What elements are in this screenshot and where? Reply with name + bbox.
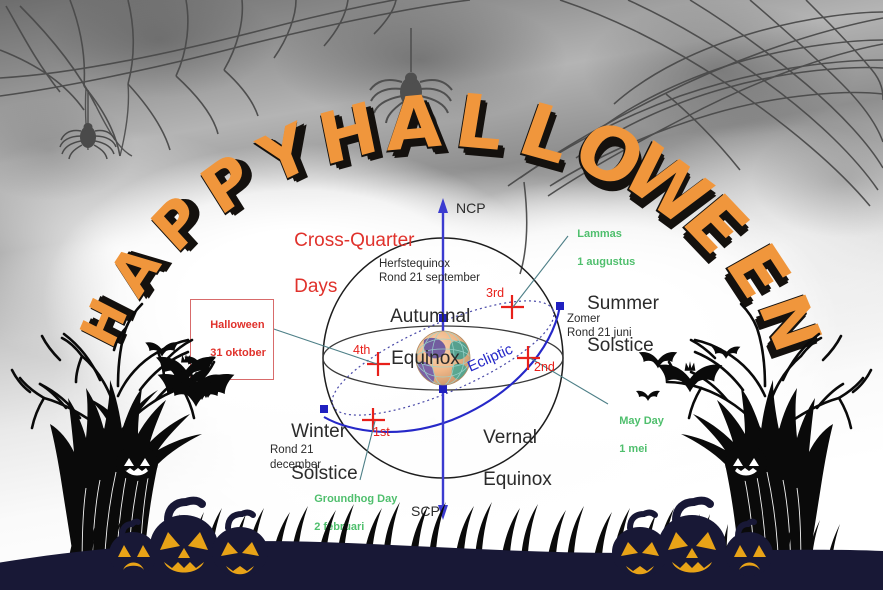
autumnal-equinox-label: Autumnal Equinox	[370, 285, 470, 390]
cross-label-1st: 1st	[373, 425, 390, 439]
cross-label-3rd: 3rd	[486, 286, 504, 300]
callout-lammas-name: Lammas	[577, 228, 622, 240]
summer-line1: Summer	[587, 293, 659, 314]
summer-dutch-line1: Zomer	[567, 312, 600, 326]
vernal-line1: Vernal	[483, 427, 537, 448]
banner-letter-2: P	[142, 186, 213, 262]
callout-may-day: May Day 1 mei	[607, 400, 664, 470]
cross-quarter-heading-line1: Cross-Quarter	[294, 230, 414, 251]
callout-may-day-date: 1 mei	[619, 443, 647, 455]
banner-letter-3: P	[192, 144, 264, 226]
banner-letter-7: L	[451, 85, 510, 162]
callout-lammas: Lammas 1 augustus	[565, 213, 635, 283]
winter-dutch-line2: december	[270, 458, 321, 472]
scp-label: SCP	[411, 503, 440, 519]
callout-halloween: Halloween 31 oktober	[190, 299, 274, 380]
summer-dutch-line2: Rond 21 juni	[567, 326, 632, 340]
callout-halloween-name: Halloween	[210, 319, 264, 331]
cross-label-2nd: 2nd	[534, 360, 555, 374]
banner-letter-5: H	[313, 92, 383, 176]
cross-quarter-heading-line2: Days	[294, 276, 337, 297]
winter-dutch-line1: Rond 21	[270, 443, 313, 457]
vernal-line2: Equinox	[483, 469, 552, 490]
callout-lammas-date: 1 augustus	[577, 256, 635, 268]
autumnal-line2: Equinox	[391, 348, 460, 369]
autumnal-dutch-line1: Herfstequinox	[379, 257, 450, 271]
banner-letter-6: A	[385, 85, 442, 162]
callout-groundhog-date: 2 februari	[314, 521, 364, 533]
callout-halloween-date: 31 oktober	[210, 347, 266, 359]
autumnal-dutch-line2: Rond 21 september	[379, 271, 480, 285]
banner-letter-4: Y	[251, 114, 319, 196]
callout-groundhog-day: Groundhog Day 2 februari	[302, 478, 397, 548]
banner-letter-1: A	[102, 236, 170, 306]
autumnal-line1: Autumnal	[390, 306, 470, 327]
halloween-astronomy-poster: HAPPYHALLOWEEN	[0, 0, 883, 590]
cross-label-4th: 4th	[353, 343, 370, 357]
ncp-label: NCP	[456, 200, 486, 216]
callout-may-day-name: May Day	[619, 415, 664, 427]
callout-groundhog-name: Groundhog Day	[314, 493, 397, 505]
vernal-equinox-label: Vernal Equinox	[462, 406, 552, 511]
winter-line1: Winter	[291, 421, 346, 442]
